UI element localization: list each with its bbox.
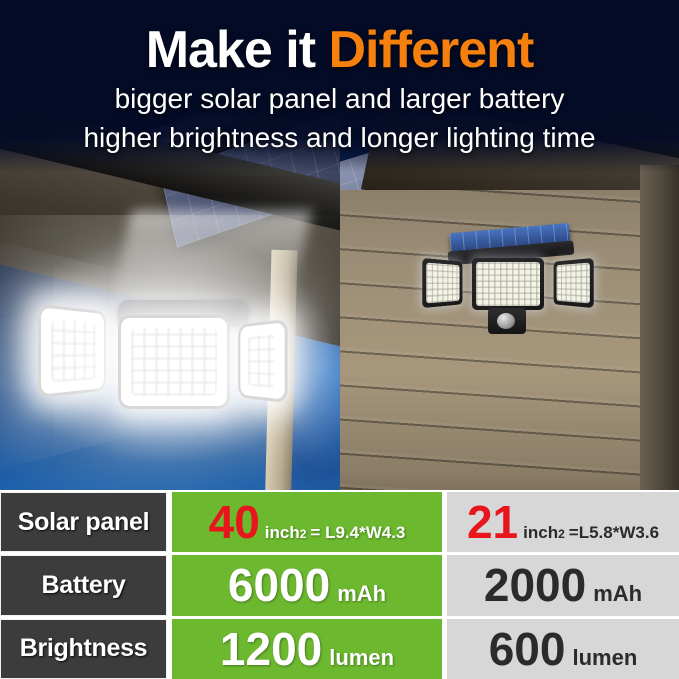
ours-solar-panel-superscript: 2	[300, 527, 307, 541]
table-row: Brightness 1200 lumen 600 lumen	[0, 619, 679, 679]
led-array-icon	[476, 262, 540, 306]
row-label-solar-panel: Solar panel	[0, 492, 167, 552]
ours-solar-panel-dimensions: = L9.4*W4.3	[310, 523, 405, 543]
value-group: 6000 mAh	[228, 562, 386, 608]
page-title: Make it Different	[0, 24, 679, 77]
ours-brightness-unit: lumen	[329, 645, 394, 671]
ours-solar-panel-number: 40	[209, 499, 260, 545]
lamp-head-center	[472, 258, 544, 310]
theirs-battery-cell: 2000 mAh	[447, 555, 679, 615]
lamp-head-left	[422, 258, 462, 308]
ours-brightness-number: 1200	[220, 626, 322, 672]
lamp-head-right	[238, 319, 287, 403]
theirs-battery-unit: mAh	[593, 581, 642, 607]
theirs-brightness-unit: lumen	[572, 645, 637, 671]
title-orange-part: Different	[328, 21, 533, 79]
comparison-table: Solar panel 40 inch 2 = L9.4*W4.3 21 inc…	[0, 490, 679, 679]
ours-battery-cell: 6000 mAh	[172, 555, 442, 615]
theirs-solar-panel-dimensions: =L5.8*W3.6	[569, 523, 659, 543]
ours-solar-panel-unit: inch	[265, 523, 300, 543]
ours-battery-number: 6000	[228, 562, 330, 608]
lamp-head-right	[554, 258, 594, 308]
subtitle-line-2: higher brightness and longer lighting ti…	[0, 120, 679, 155]
ours-battery-unit: mAh	[337, 581, 386, 607]
header-banner: Make it Different bigger solar panel and…	[0, 0, 679, 172]
table-row: Battery 6000 mAh 2000 mAh	[0, 555, 679, 615]
theirs-solar-panel-superscript: 2	[558, 527, 565, 541]
table-row: Solar panel 40 inch 2 = L9.4*W4.3 21 inc…	[0, 492, 679, 552]
ours-solar-panel-cell: 40 inch 2 = L9.4*W4.3	[172, 492, 442, 552]
value-group: 600 lumen	[489, 626, 638, 672]
lamp-head-left	[38, 304, 106, 398]
row-label-brightness: Brightness	[0, 619, 167, 679]
theirs-solar-panel-unit: inch	[523, 523, 558, 543]
product-comparison-infographic: Make it Different bigger solar panel and…	[0, 0, 679, 679]
led-array-icon	[248, 334, 275, 388]
corner-post	[640, 165, 679, 492]
led-array-icon	[557, 263, 590, 304]
value-group: 1200 lumen	[220, 626, 394, 672]
theirs-solar-panel-number: 21	[467, 499, 518, 545]
theirs-brightness-number: 600	[489, 626, 566, 672]
led-array-icon	[426, 263, 459, 304]
theirs-battery-number: 2000	[484, 562, 586, 608]
value-group: 40 inch 2 = L9.4*W4.3	[209, 499, 406, 545]
theirs-solar-panel-cell: 21 inch 2 =L5.8*W3.6	[447, 492, 679, 552]
lamp-head-center	[118, 315, 230, 409]
row-label-battery: Battery	[0, 555, 167, 615]
value-group: 2000 mAh	[484, 562, 642, 608]
theirs-brightness-cell: 600 lumen	[447, 619, 679, 679]
led-array-icon	[131, 328, 217, 396]
motion-sensor-icon	[488, 308, 526, 334]
title-white-part: Make it	[146, 21, 329, 79]
subtitle-line-1: bigger solar panel and larger battery	[0, 81, 679, 116]
value-group: 21 inch 2 =L5.8*W3.6	[467, 499, 659, 545]
led-array-icon	[51, 319, 96, 383]
ours-brightness-cell: 1200 lumen	[172, 619, 442, 679]
